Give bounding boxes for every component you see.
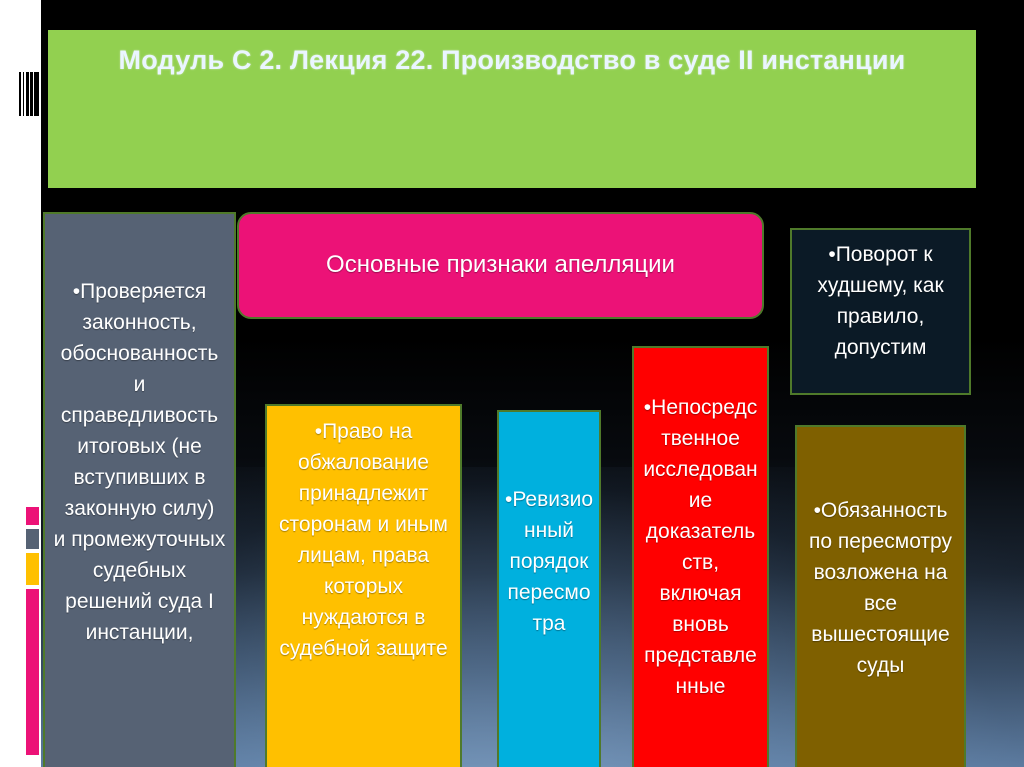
decorative-stripe-stack [26,507,39,755]
card-obligation: •Обязанность по пересмотру возложена на … [795,425,966,767]
stripe-pink-long [26,589,39,755]
stripe-orange [26,553,39,585]
card-worse-turn: •Поворот к худшему, как правило, допусти… [790,228,971,395]
stripe-pink-top [26,507,39,525]
stripe-slate [26,529,39,549]
card-legality-text: •Проверяется законность, обоснованность … [53,276,226,648]
main-features-heading-text: Основные признаки апелляции [253,250,748,280]
card-main-features-heading: Основные признаки апелляции [237,212,764,319]
slide-title-banner: Модуль С 2. Лекция 22. Производство в су… [48,30,976,188]
card-appeal-right-text: •Право на обжалование принадлежит сторон… [275,416,452,664]
card-obligation-text: •Обязанность по пересмотру возложена на … [804,495,957,681]
card-evidence-text: •Непосредственное исследование доказател… [641,392,760,702]
card-worse-turn-text: •Поворот к худшему, как правило, допусти… [800,239,961,363]
card-legality: •Проверяется законность, обоснованность … [43,212,236,767]
presentation-slide: Модуль С 2. Лекция 22. Производство в су… [0,0,1024,767]
card-review-order-text: •Ревизионный порядок пересмотра [504,484,594,639]
card-review-order: •Ревизионный порядок пересмотра [497,410,601,767]
barcode-icon [19,72,39,116]
card-evidence: •Непосредственное исследование доказател… [632,346,769,767]
page-title: Модуль С 2. Лекция 22. Производство в су… [74,44,950,76]
card-appeal-right: •Право на обжалование принадлежит сторон… [265,404,462,767]
